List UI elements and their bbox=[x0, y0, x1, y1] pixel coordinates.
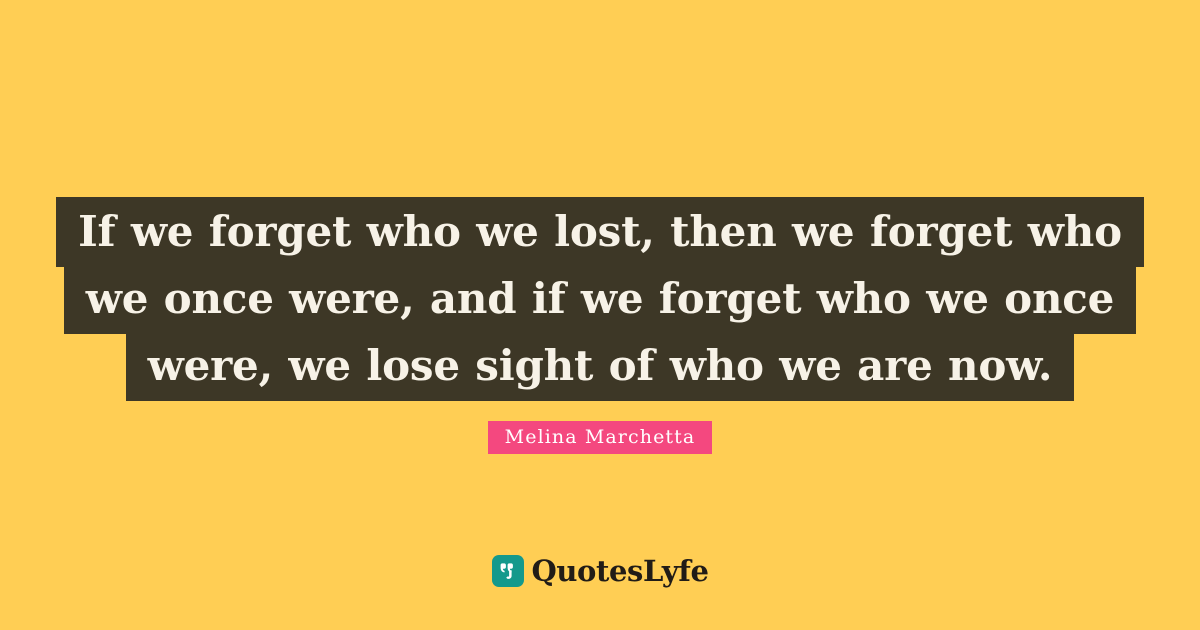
quote-line-2: we once were, and if we forget who we on… bbox=[64, 264, 1136, 334]
brand-logo: QuotesLyfe bbox=[0, 555, 1200, 587]
brand-name: QuotesLyfe bbox=[532, 555, 709, 587]
author-name-badge: Melina Marchetta bbox=[488, 421, 713, 454]
author-container: Melina Marchetta bbox=[0, 421, 1200, 454]
quote-mark-icon bbox=[492, 555, 524, 587]
quote-line-1: If we forget who we lost, then we forget… bbox=[56, 197, 1144, 267]
quote-poster: If we forget who we lost, then we forget… bbox=[0, 0, 1200, 630]
quote-container: If we forget who we lost, then we forget… bbox=[0, 198, 1200, 399]
quote-line-3: were, we lose sight of who we are now. bbox=[126, 331, 1075, 401]
quote-text: If we forget who we lost, then we forget… bbox=[0, 198, 1200, 399]
